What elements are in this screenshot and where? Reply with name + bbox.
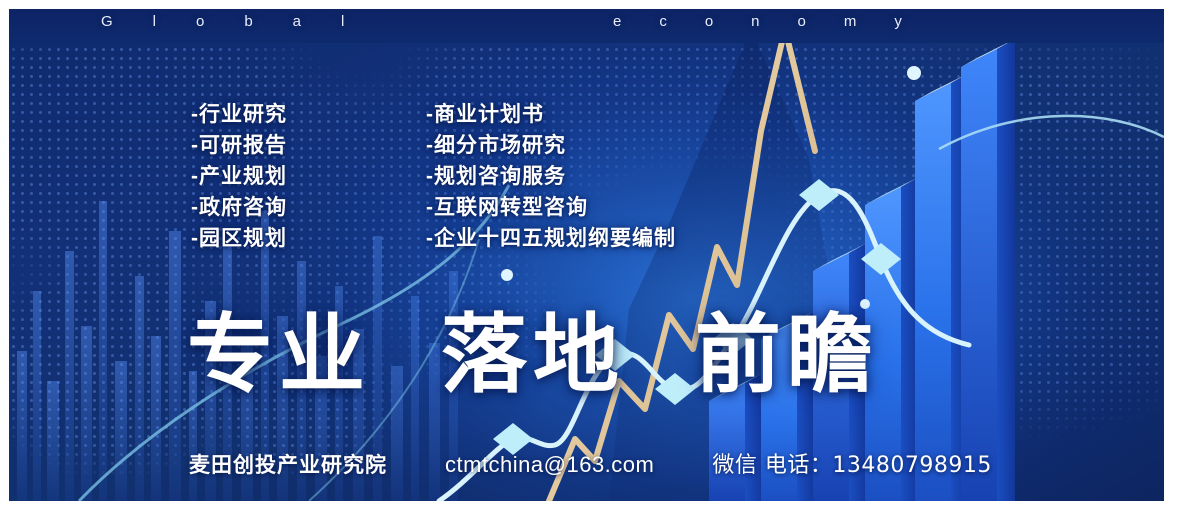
service-item: -规划咨询服务: [426, 161, 676, 192]
service-item: -可研报告: [191, 130, 287, 161]
organization-name: 麦田创投产业研究院: [189, 449, 387, 479]
services-list-right: -商业计划书 -细分市场研究 -规划咨询服务 -互联网转型咨询 -企业十四五规划…: [426, 99, 676, 254]
service-item: -商业计划书: [426, 99, 676, 130]
service-item: -园区规划: [191, 223, 287, 254]
services-list-left: -行业研究 -可研报告 -产业规划 -政府咨询 -园区规划: [191, 99, 287, 254]
service-item: -行业研究: [191, 99, 287, 130]
service-item: -政府咨询: [191, 192, 287, 223]
slogan-word: 前瞻: [695, 305, 879, 405]
banner-frame: Global economy -行业研究 -可研报告 -产业规划 -政府咨询 -…: [0, 0, 1177, 514]
service-item: -产业规划: [191, 161, 287, 192]
slogan-word: 落地: [441, 305, 625, 405]
economy-chart-artwork: [9, 9, 1164, 501]
email-address[interactable]: ctmtchina@163.com: [445, 452, 654, 478]
kicker-economy-text: economy: [613, 13, 940, 30]
service-item: -互联网转型咨询: [426, 192, 676, 223]
main-slogan: 专业 落地 前瞻: [187, 307, 879, 403]
footer-contact-row: 麦田创投产业研究院 ctmtchina@163.com 微信 电话：134807…: [189, 447, 992, 479]
marketing-poster: Global economy -行业研究 -可研报告 -产业规划 -政府咨询 -…: [9, 9, 1164, 501]
slogan-word: 专业: [187, 305, 371, 405]
phone-number[interactable]: 微信 电话：13480798915: [712, 447, 991, 479]
service-item: -企业十四五规划纲要编制: [426, 223, 676, 254]
kicker-global-text: Global: [101, 13, 384, 30]
service-item: -细分市场研究: [426, 130, 676, 161]
